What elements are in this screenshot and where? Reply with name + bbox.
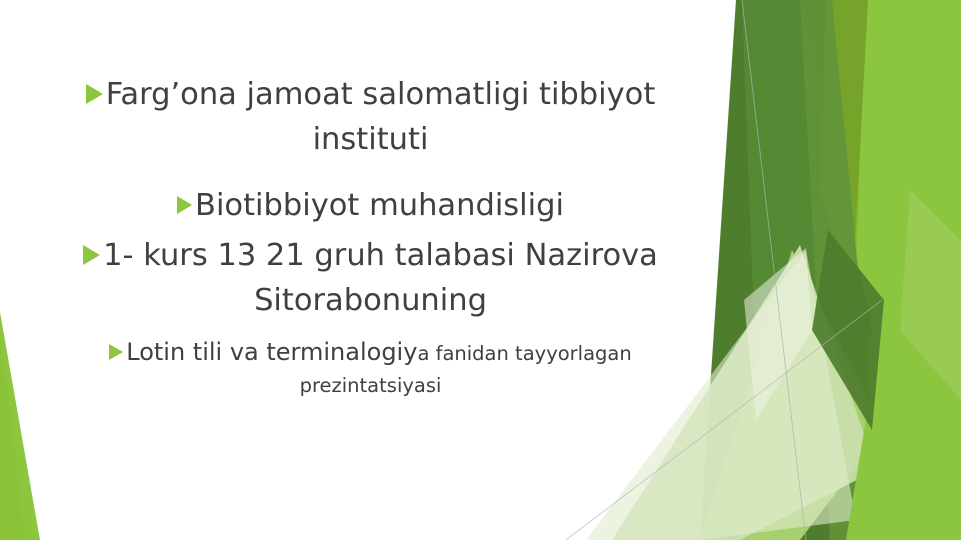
facet-shape-base-right <box>700 0 961 540</box>
facet-shape-pale-lower <box>700 250 884 540</box>
facet-shape-left-wedge-pale <box>0 330 25 540</box>
title-text-block: Farg’ona jamoat salomatligi tibbiyot ins… <box>58 72 683 401</box>
triangle-right-bullet-icon <box>109 344 123 360</box>
title-line-4: Lotin tili va terminalogiya fanidan tayy… <box>58 323 683 401</box>
facet-shape-bright-column <box>846 0 961 540</box>
facet-shape-mid-slice <box>800 0 884 540</box>
title-line-4-text-main: Lotin tili va terminalogiy <box>126 338 417 366</box>
facet-hairline-upper <box>742 0 806 540</box>
title-line-1-text: Farg’ona jamoat salomatligi tibbiyot ins… <box>106 77 656 157</box>
triangle-right-bullet-icon <box>177 196 192 214</box>
triangle-right-bullet-icon <box>83 245 100 265</box>
title-line-3-text: 1- kurs 13 21 gruh talabasi Nazirova Sit… <box>103 238 658 318</box>
facet-shape-left-wedge <box>0 312 40 540</box>
facet-shape-dark-wedge <box>700 0 880 540</box>
title-line-3: 1- kurs 13 21 gruh talabasi Nazirova Sit… <box>58 228 683 323</box>
facet-shape-green-lowerright <box>846 265 961 540</box>
facet-shape-deep-triangle <box>742 0 872 540</box>
facet-shape-accent-sliver <box>900 190 961 400</box>
facet-shape-dark-cross <box>812 230 884 430</box>
title-line-2: Biotibbiyot muhandisligi <box>58 162 683 228</box>
triangle-right-bullet-icon <box>86 84 103 104</box>
facet-shape-light-notch <box>744 248 812 420</box>
facet-shape-olive-band <box>820 0 868 300</box>
title-line-1: Farg’ona jamoat salomatligi tibbiyot ins… <box>58 72 683 162</box>
slide-canvas: Farg’ona jamoat salomatligi tibbiyot ins… <box>0 0 961 540</box>
title-line-2-text: Biotibbiyot muhandisligi <box>195 188 564 223</box>
